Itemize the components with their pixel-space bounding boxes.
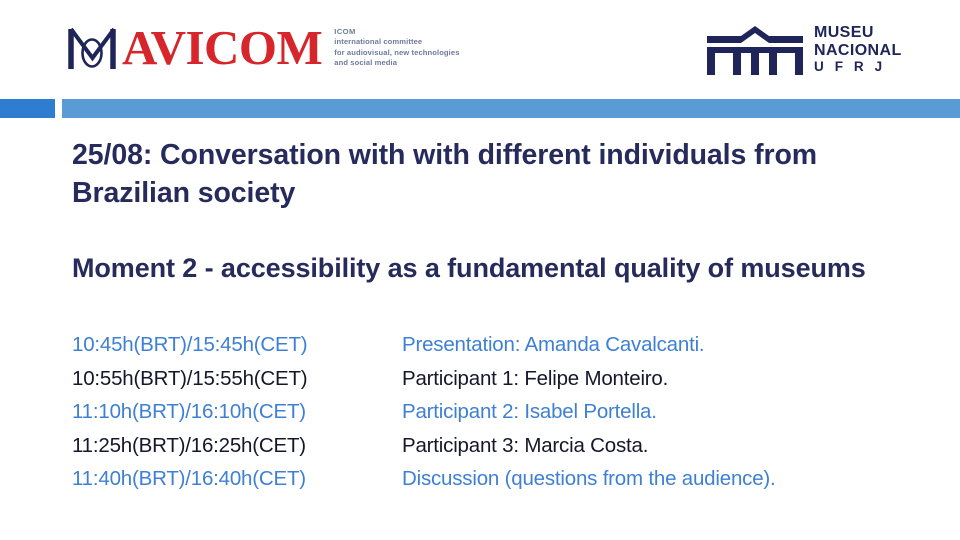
schedule-description: Discussion (questions from the audience)… <box>402 462 922 496</box>
accent-bar-left <box>0 99 55 118</box>
avicom-subtitle-line-2: international committee <box>334 37 459 47</box>
museu-line-nacional: NACIONAL <box>814 42 902 60</box>
schedule-row: 11:10h(BRT)/16:10h(CET) Participant 2: I… <box>72 395 922 429</box>
schedule-description: Participant 1: Felipe Monteiro. <box>402 362 922 396</box>
schedule-time: 11:25h(BRT)/16:25h(CET) <box>72 429 402 463</box>
museu-line-museu: MUSEU <box>814 24 902 42</box>
schedule-description: Participant 3: Marcia Costa. <box>402 429 922 463</box>
schedule-row: 11:25h(BRT)/16:25h(CET) Participant 3: M… <box>72 429 922 463</box>
schedule-row: 10:45h(BRT)/15:45h(CET) Presentation: Am… <box>72 328 922 362</box>
schedule-time: 11:10h(BRT)/16:10h(CET) <box>72 395 402 429</box>
schedule-row: 11:40h(BRT)/16:40h(CET) Discussion (ques… <box>72 462 922 496</box>
avicom-subtitle-line-3: for audiovisual, new technologies <box>334 48 459 58</box>
schedule-time: 11:40h(BRT)/16:40h(CET) <box>72 462 402 496</box>
schedule-time: 10:55h(BRT)/15:55h(CET) <box>72 362 402 396</box>
avicom-wordmark: AVICOM <box>122 23 322 72</box>
slide-title: 25/08: Conversation with with different … <box>72 136 892 212</box>
schedule-description: Presentation: Amanda Cavalcanti. <box>402 328 922 362</box>
museum-building-icon <box>707 25 803 75</box>
accent-bar-main <box>62 99 960 118</box>
schedule-list: 10:45h(BRT)/15:45h(CET) Presentation: Am… <box>72 328 922 496</box>
museu-nacional-wordmark: MUSEU NACIONAL U F R J <box>814 24 902 75</box>
schedule-time: 10:45h(BRT)/15:45h(CET) <box>72 328 402 362</box>
presentation-slide: AVICOM ICOM international committee for … <box>0 0 960 540</box>
avicom-subtitle-line-4: and social media <box>334 58 459 68</box>
avicom-logo: AVICOM ICOM international committee for … <box>66 22 460 74</box>
museu-line-ufrj: U F R J <box>814 59 902 75</box>
slide-subtitle: Moment 2 - accessibility as a fundamenta… <box>72 250 902 286</box>
avicom-subtitle-line-1: ICOM <box>334 27 459 37</box>
schedule-row: 10:55h(BRT)/15:55h(CET) Participant 1: F… <box>72 362 922 396</box>
museu-nacional-logo: MUSEU NACIONAL U F R J <box>707 24 902 75</box>
avicom-subtitle: ICOM international committee for audiovi… <box>334 27 459 68</box>
schedule-description: Participant 2: Isabel Portella. <box>402 395 922 429</box>
logo-header-band: AVICOM ICOM international committee for … <box>0 0 960 99</box>
avicom-monogram-icon <box>66 22 120 74</box>
